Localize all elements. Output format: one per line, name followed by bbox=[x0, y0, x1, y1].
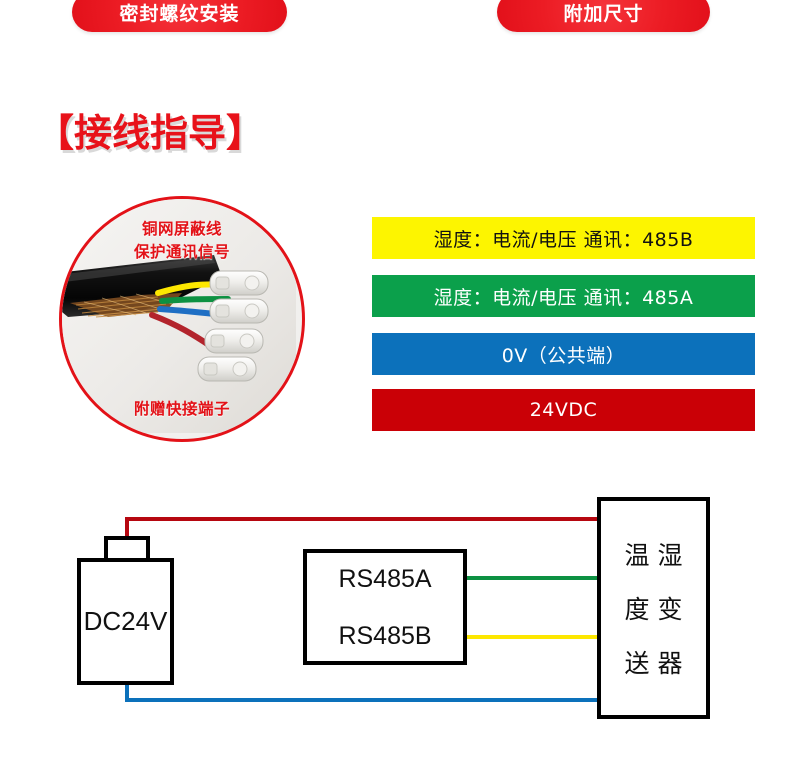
legend-bar-label: 0V（公共端） bbox=[502, 341, 626, 368]
legend-bar-blue-0v: 0V（公共端） bbox=[372, 333, 755, 375]
wire-rs485b-yellow bbox=[463, 635, 602, 639]
sensor-label-line1: 温湿 bbox=[616, 536, 690, 572]
pill-button-label: 密封螺纹安装 bbox=[119, 0, 239, 26]
wire-power-positive-horizontal bbox=[125, 517, 602, 521]
sensor-label-line3: 送器 bbox=[616, 644, 690, 680]
wire-rs485a-green bbox=[463, 576, 602, 580]
pill-button-label: 附加尺寸 bbox=[563, 0, 643, 26]
pill-button-additional-dimensions[interactable]: 附加尺寸 bbox=[497, 0, 710, 32]
cable-photo-caption-top-line2: 保护通讯信号 bbox=[62, 240, 302, 262]
power-supply-label: DC24V bbox=[77, 558, 174, 685]
wire-ground-horizontal bbox=[125, 698, 602, 702]
cable-photo-caption-bottom: 附赠快接端子 bbox=[62, 397, 302, 419]
cable-photo-caption-top-line1: 铜网屏蔽线 bbox=[62, 217, 302, 239]
legend-bar-label: 湿度：电流/电压 通讯：485B bbox=[434, 225, 694, 252]
rs485a-label: RS485A bbox=[303, 565, 467, 594]
wiring-diagram: DC24V RS485A RS485B 温湿 度变 送器 bbox=[0, 470, 790, 760]
legend-bar-label: 24VDC bbox=[530, 399, 598, 421]
legend-bar-label: 湿度：电流/电压 通讯：485A bbox=[434, 283, 694, 310]
cable-photo-circle: 铜网屏蔽线 保护通讯信号 附赠快接端子 bbox=[59, 196, 305, 442]
legend-bar-yellow-485b: 湿度：电流/电压 通讯：485B bbox=[372, 217, 755, 259]
pill-button-sealed-thread-install[interactable]: 密封螺纹安装 bbox=[72, 0, 287, 32]
page-title: 【接线指导】 bbox=[36, 102, 264, 157]
sensor-transmitter-label: 温湿 度变 送器 bbox=[597, 497, 710, 719]
rs485b-label: RS485B bbox=[303, 622, 467, 651]
sensor-label-line2: 度变 bbox=[616, 590, 690, 626]
legend-bar-green-485a: 湿度：电流/电压 通讯：485A bbox=[372, 275, 755, 317]
legend-bar-red-24vdc: 24VDC bbox=[372, 389, 755, 431]
